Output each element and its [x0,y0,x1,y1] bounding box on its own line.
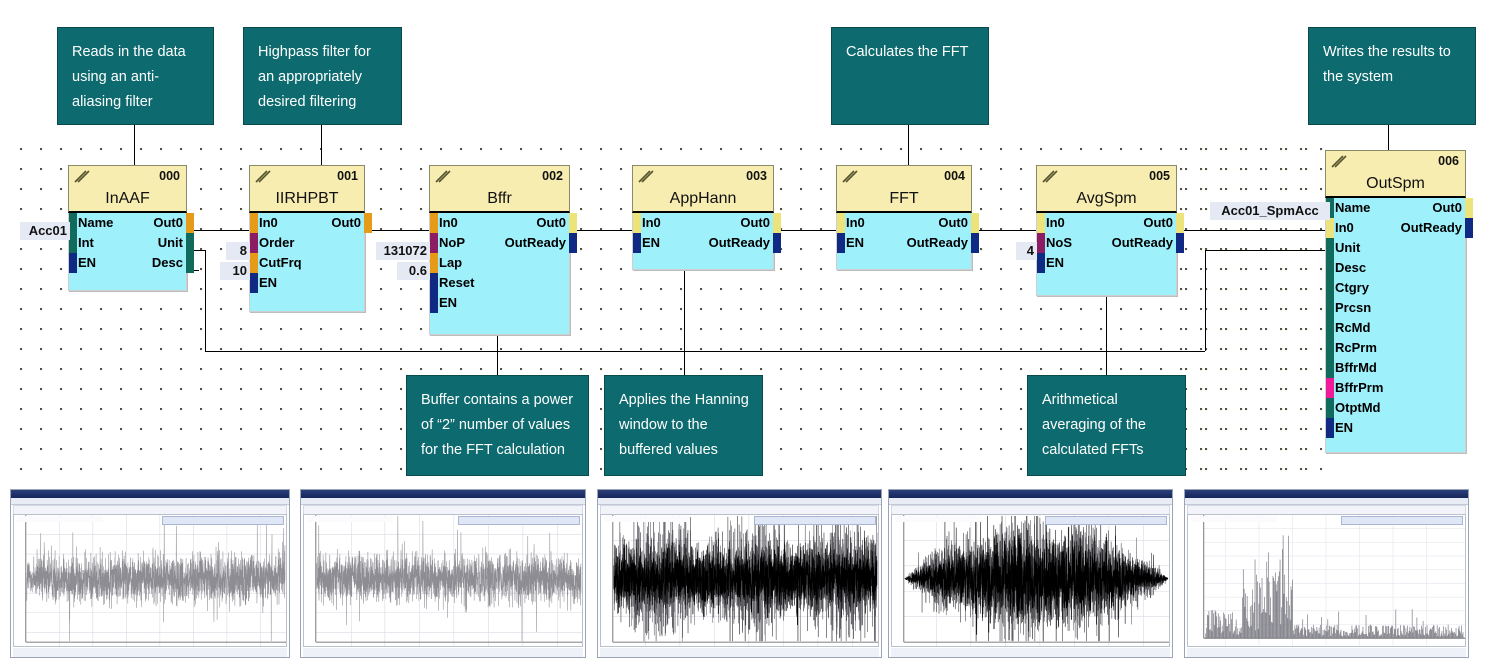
plot-toolbar[interactable] [754,516,876,525]
plot-canvas [303,514,583,647]
block-marker-icon [255,170,271,183]
plot-statusbar [13,648,287,657]
plot-legend [17,516,103,522]
row-outspm-ctgry: Ctgry [1326,278,1465,298]
row-apphann-in0: In0 Out0 [633,213,773,233]
wire-inaaf-unit-seg-b [205,250,206,351]
pin-apphann-en[interactable] [633,233,641,253]
pin-label-bffrprm: BffrPrm [1335,378,1383,398]
literal-bffr-nop[interactable]: 131072 [376,242,430,260]
row-outspm-in0: In0 OutReady [1326,218,1465,238]
pin-apphann-in0[interactable] [633,213,641,233]
pin-bffr-en[interactable] [430,293,438,313]
pin-inaaf-unit[interactable] [186,233,194,273]
row-bffr-lap: Lap [430,253,569,273]
pin-label-out0: Out0 [1143,213,1173,233]
literal-outspm-name[interactable]: Acc01_SpmAcc [1210,202,1330,220]
block-outspm-header: 006 OutSpm [1325,150,1466,198]
plot-menubar [598,498,881,505]
block-marker-icon [1042,170,1058,183]
pin-avgspm-out0[interactable] [1176,213,1184,233]
pin-bffr-in0[interactable] [430,213,438,233]
plot-toolbar[interactable] [1045,516,1167,525]
pin-iirhpbt-order[interactable] [250,233,258,253]
block-inaaf-header: 000 InAAF [68,165,187,213]
plot-buffered[interactable] [597,489,882,658]
literal-avgspm-nos[interactable]: 4 [1016,242,1037,260]
plot-trace-filtered [304,515,582,646]
plot-trace-hanning [892,515,1169,646]
block-apphann-header: 003 AppHann [632,165,774,213]
wire-inaaf-unit-seg-c [205,351,1205,352]
block-avgspm-header: 005 AvgSpm [1036,165,1177,213]
row-outspm-otptmd: OtptMd [1326,398,1465,418]
pin-iirhpbt-in0[interactable] [250,213,258,233]
row-outspm-en: EN [1326,418,1465,438]
block-bffr-header: 002 Bffr [429,165,570,213]
block-iirhpbt-title: IIRHPBT [250,190,364,208]
pin-fft-out0[interactable] [971,213,979,233]
block-inaaf-number: 000 [159,169,180,183]
pin-fft-en[interactable] [837,233,845,253]
pin-bffr-outready[interactable] [569,233,577,253]
plot-trace-buffered [601,515,878,646]
row-outspm-prcsn: Prcsn [1326,298,1465,318]
plot-toolbar[interactable] [458,516,580,525]
row-outspm-rcprm: RcPrm [1326,338,1465,358]
pin-label-in0: In0 [642,213,661,233]
row-avgspm-in0: In0 Out0 [1037,213,1176,233]
wire-avgspm-out0-to-outspm-in0 [1177,230,1325,231]
block-outspm-body: Name Out0 In0 OutReady Unit Desc Ctgry P… [1325,198,1466,453]
row-outspm-bffrprm: BffrPrm [1326,378,1465,398]
row-avgspm-nos: NoS OutReady [1037,233,1176,253]
pin-label-prcsn: Prcsn [1335,298,1371,318]
row-bffr-reset: Reset [430,273,569,293]
literal-inaaf-name[interactable]: Acc01 [20,222,70,240]
block-marker-icon [638,170,654,183]
pin-apphann-out0[interactable] [773,213,781,233]
plot-titlebar [11,490,289,498]
block-iirhpbt-body: In0 Out0 Order CutFrq EN [249,213,365,312]
block-apphann-number: 003 [746,169,767,183]
block-apphann-body: In0 Out0 EN OutReady [632,213,774,270]
plot-statusbar [600,648,879,657]
plot-trace-raw [14,515,286,646]
callout-apphann: Applies the Hanning window to the buffer… [604,375,763,476]
block-fft-number: 004 [944,169,965,183]
block-fft-title: FFT [837,190,971,208]
literal-iirhpbt-cutfrq[interactable]: 10 [220,262,250,280]
pin-fft-outready[interactable] [971,233,979,253]
pin-outspm-in0[interactable] [1326,218,1334,238]
pin-label-en: EN [1046,253,1064,273]
plot-hanning[interactable] [888,489,1173,658]
pin-avgspm-nos[interactable] [1037,233,1045,253]
plot-statusbar [891,648,1170,657]
pin-bffr-reset[interactable] [430,273,438,293]
pin-label-outready: OutReady [1112,233,1173,253]
callout-fft: Calculates the FFT [831,27,989,125]
pin-label-outready: OutReady [907,233,968,253]
row-outspm-unit: Unit [1326,238,1465,258]
plot-statusbar [303,648,583,657]
row-iirhpbt-en: EN [250,273,364,293]
row-bffr-nop: NoP OutReady [430,233,569,253]
row-iirhpbt-cutfrq: CutFrq [250,253,364,273]
callout-iirhpbt: Highpass filter for an appropriately des… [243,27,402,125]
pin-label-outready: OutReady [709,233,770,253]
callout-bffr: Buffer contains a power of “2” number of… [406,375,589,476]
plot-legend [307,516,393,522]
pin-label-otptmd: OtptMd [1335,398,1380,418]
row-avgspm-en: EN [1037,253,1176,273]
pin-avgspm-en[interactable] [1037,253,1045,273]
plot-raw[interactable] [10,489,290,658]
wire-fft-out0-to-avgspm-in0 [972,230,1036,231]
block-marker-icon [1331,155,1347,168]
block-outspm-number: 006 [1438,154,1459,168]
pin-label-int: Int [78,233,94,253]
wire-inaaf-unit-seg-d [1205,250,1206,351]
plot-titlebar [889,490,1172,498]
row-inaaf-en: EN Desc [69,253,186,273]
plot-legend [895,516,981,522]
block-bffr-title: Bffr [430,190,569,208]
pin-label-bffrmd: BffrMd [1335,358,1377,378]
block-outspm-title: OutSpm [1326,175,1465,193]
pin-iirhpbt-out0[interactable] [364,213,372,233]
literal-bffr-lap[interactable]: 0.6 [397,262,430,280]
block-inaaf[interactable]: 000 InAAF Name Out0 Int Unit EN Desc [68,165,187,291]
pin-label-out0: Out0 [153,213,183,233]
row-outspm-name: Name Out0 [1326,198,1465,218]
row-iirhpbt-in0: In0 Out0 [250,213,364,233]
row-inaaf-name: Name Out0 [69,213,186,233]
block-inaaf-body: Name Out0 Int Unit EN Desc [68,213,187,291]
row-iirhpbt-order: Order [250,233,364,253]
block-avgspm-title: AvgSpm [1037,190,1176,208]
plot-menubar [11,498,289,505]
plot-legend [1191,516,1277,522]
pin-label-name: Name [1335,198,1370,218]
pin-avgspm-in0[interactable] [1037,213,1045,233]
plot-toolbar[interactable] [1341,516,1463,525]
block-iirhpbt-number: 001 [337,169,358,183]
row-outspm-rcmd: RcMd [1326,318,1465,338]
pin-label-desc: Desc [152,253,183,273]
block-avgspm-body: In0 Out0 NoS OutReady EN [1036,213,1177,296]
plot-canvas [13,514,287,647]
plot-toolbar[interactable] [162,516,284,525]
pin-bffr-out0[interactable] [569,213,577,233]
callout-outspm: Writes the results to the system [1308,27,1476,125]
block-bffr-body: In0 Out0 NoP OutReady Lap Reset EN [429,213,570,335]
plot-trace-spectrum [1188,515,1465,646]
block-bffr-number: 002 [542,169,563,183]
pin-label-in0: In0 [1046,213,1065,233]
pin-label-cutfrq: CutFrq [259,253,302,273]
pin-outspm-en[interactable] [1326,418,1334,438]
pin-iirhpbt-en[interactable] [250,273,258,293]
row-bffr-en: EN [430,293,569,313]
pin-label-out0: Out0 [1432,198,1462,218]
block-fft-body: In0 Out0 EN OutReady [836,213,972,270]
row-fft-en: EN OutReady [837,233,971,253]
pin-label-outready: OutReady [505,233,566,253]
pin-label-in0: In0 [439,213,458,233]
row-apphann-en: EN OutReady [633,233,773,253]
pin-label-en: EN [259,273,277,293]
block-fft-header: 004 FFT [836,165,972,213]
block-outspm[interactable]: 006 OutSpm Name Out0 In0 OutReady Unit [1325,150,1466,453]
leader-line-apphann [684,262,685,375]
block-iirhpbt[interactable]: 001 IIRHPBT In0 Out0 Order CutFrq EN [249,165,365,312]
wire-bffr-out0-to-apphann-in0 [570,230,632,231]
block-bffr[interactable]: 002 Bffr In0 Out0 NoP OutReady Lap [429,165,570,335]
plot-titlebar [598,490,881,498]
pin-label-out0: Out0 [331,213,361,233]
pin-label-reset: Reset [439,273,474,293]
plot-titlebar [301,490,585,498]
block-avgspm-number: 005 [1149,169,1170,183]
block-apphann[interactable]: 003 AppHann In0 Out0 EN OutReady [632,165,774,270]
block-fft[interactable]: 004 FFT In0 Out0 EN OutReady [836,165,972,270]
pin-label-rcmd: RcMd [1335,318,1370,338]
block-inaaf-title: InAAF [69,190,186,208]
pin-label-en: EN [846,233,864,253]
pin-label-unit: Unit [158,233,183,253]
diagram-canvas: Reads in the data using an anti-aliasing… [0,0,1491,668]
plot-spectrum[interactable] [1184,489,1469,658]
pin-label-en: EN [1335,418,1353,438]
pin-inaaf-out0[interactable] [186,213,194,233]
block-iirhpbt-header: 001 IIRHPBT [249,165,365,213]
row-fft-in0: In0 Out0 [837,213,971,233]
pin-label-in0: In0 [259,213,278,233]
wire-inaaf-unit-seg-e [1205,250,1325,251]
plot-titlebar [1185,490,1468,498]
pin-label-outready: OutReady [1401,218,1462,238]
pin-label-en: EN [78,253,96,273]
block-avgspm[interactable]: 005 AvgSpm In0 Out0 NoS OutReady EN [1036,165,1177,296]
grid-dot-field-right [1185,148,1325,476]
wire-inaaf-out0-to-iirhpbt-in0 [187,230,249,231]
pin-outspm-outready[interactable] [1465,218,1473,238]
pin-label-order: Order [259,233,294,253]
pin-label-out0: Out0 [938,213,968,233]
plot-canvas [1187,514,1466,647]
plot-filtered[interactable] [300,489,586,658]
pin-label-rcprm: RcPrm [1335,338,1377,358]
row-outspm-bffrmd: BffrMd [1326,358,1465,378]
pin-label-out0: Out0 [536,213,566,233]
pin-label-nop: NoP [439,233,465,253]
row-outspm-desc: Desc [1326,258,1465,278]
pin-label-ctgry: Ctgry [1335,278,1369,298]
pin-label-desc: Desc [1335,258,1366,278]
pin-avgspm-outready[interactable] [1176,233,1184,253]
row-bffr-in0: In0 Out0 [430,213,569,233]
callout-avgspm: Arithmetical averaging of the calculated… [1027,375,1186,476]
pin-fft-in0[interactable] [837,213,845,233]
block-marker-icon [74,170,90,183]
pin-label-in0: In0 [846,213,865,233]
plot-statusbar [1187,648,1466,657]
block-marker-icon [435,170,451,183]
pin-label-out0: Out0 [740,213,770,233]
plot-menubar [301,498,585,505]
pin-label-lap: Lap [439,253,462,273]
plot-legend [604,516,690,522]
wire-iirhpbt-out0-to-bffr-in0 [365,230,429,231]
block-marker-icon [842,170,858,183]
pin-label-en: EN [439,293,457,313]
block-apphann-title: AppHann [633,190,773,208]
literal-iirhpbt-order[interactable]: 8 [226,242,250,260]
pin-apphann-outready[interactable] [773,233,781,253]
plot-canvas [600,514,879,647]
pin-bffr-lap[interactable] [430,253,438,273]
pin-outspm-out0[interactable] [1465,198,1473,218]
pin-label-name: Name [78,213,113,233]
callout-inaaf: Reads in the data using an anti-aliasing… [57,27,214,125]
plot-menubar [889,498,1172,505]
wire-apphann-out0-to-fft-in0 [774,230,836,231]
pin-label-en: EN [642,233,660,253]
pin-label-unit: Unit [1335,238,1360,258]
pin-iirhpbt-cutfrq[interactable] [250,253,258,273]
pin-label-nos: NoS [1046,233,1072,253]
pin-bffr-nop[interactable] [430,233,438,253]
plot-canvas [891,514,1170,647]
pin-label-in0: In0 [1335,218,1354,238]
plot-menubar [1185,498,1468,505]
row-inaaf-int: Int Unit [69,233,186,253]
pin-inaaf-en[interactable] [69,253,77,273]
